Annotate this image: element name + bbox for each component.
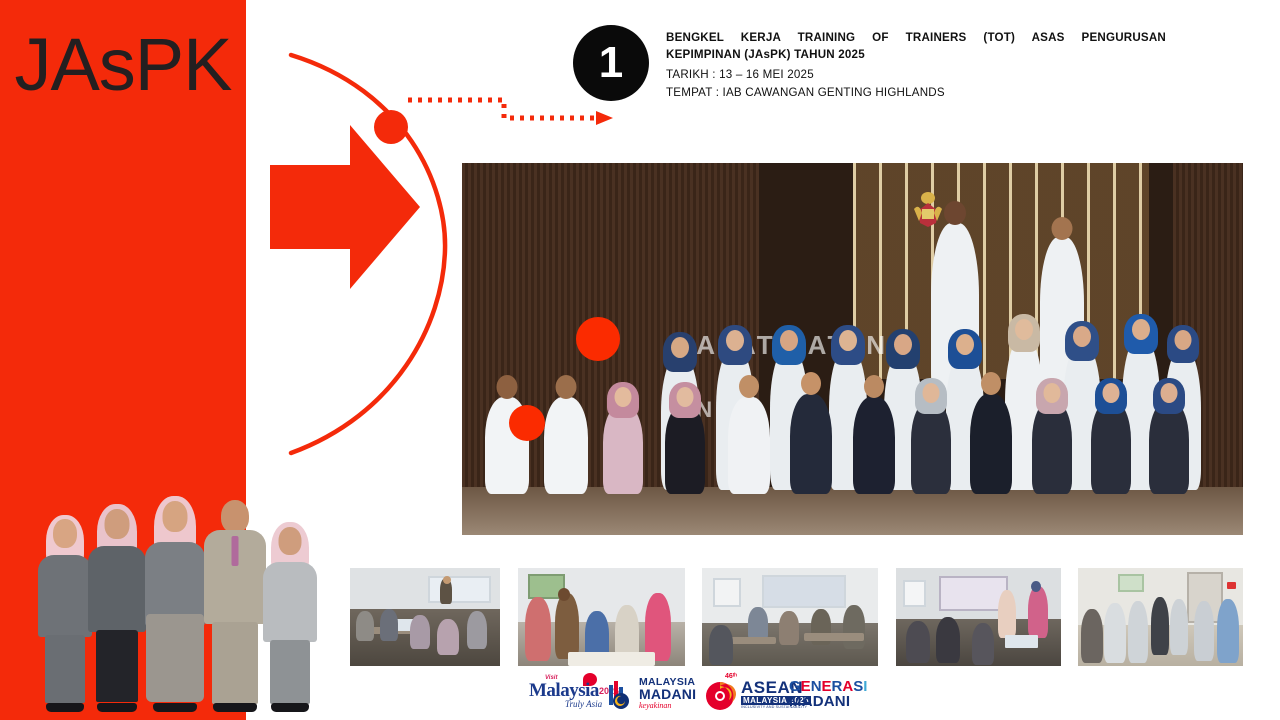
photo-person-front	[728, 397, 770, 494]
photo-person-front	[790, 394, 832, 494]
malaysia-crest-icon	[911, 189, 945, 229]
header-text-block: BENGKEL KERJA TRAINING OF TRAINERS (TOT)…	[666, 30, 1166, 103]
presentation-slide: JAsPK	[0, 0, 1280, 720]
header-date: TARIKH : 13 – 16 MEI 2025	[666, 66, 1166, 85]
photo-redaction-dot	[509, 405, 545, 441]
madani-mark-icon	[608, 679, 634, 709]
logo-vm-tagline: Truly Asia	[565, 699, 602, 709]
photo-person-front	[970, 394, 1012, 494]
header-title-line-1: BENGKEL KERJA TRAINING OF TRAINERS (TOT)…	[666, 30, 1166, 47]
thumbnail-classroom-presentation[interactable]	[702, 568, 878, 666]
photo-person-front	[665, 405, 705, 494]
thumbnail-corridor-lineup[interactable]	[1078, 568, 1243, 666]
photo-person-front	[603, 405, 643, 494]
thumbnail-lecture-hall[interactable]	[350, 568, 500, 666]
step-number-badge: 1	[573, 25, 649, 101]
logo-gm-line2: MADANI	[789, 694, 867, 710]
photo-person-front	[1149, 401, 1189, 494]
thumbnail-screen-briefing[interactable]	[896, 568, 1061, 666]
logo-mm-line2: MADANI	[639, 687, 696, 701]
header-venue: TEMPAT : IAB CAWANGAN GENTING HIGHLANDS	[666, 84, 1166, 103]
photo-person-front	[1091, 401, 1131, 494]
photo-person-front	[1032, 401, 1072, 494]
logo-gm-line1: GENERASI	[789, 679, 867, 694]
logo-asean-anniversary: 46ᵗʰ	[725, 673, 737, 680]
header-title-line-2: KEPIMPINAN (JAsPK) TAHUN 2025	[666, 47, 1166, 64]
asean-spiral-icon: 46ᵗʰ	[703, 677, 737, 711]
thumbnail-group-discussion[interactable]	[518, 568, 685, 666]
logo-generasi-madani: GENERASI MADANI	[789, 672, 867, 716]
photo-person-front	[853, 397, 895, 494]
main-group-photo: ALAT DATANG N B	[462, 163, 1243, 535]
page-title: JAsPK	[0, 28, 246, 102]
photo-person-front	[544, 397, 588, 494]
logo-malaysia-madani: MALAYSIA MADANI keyakinan	[608, 672, 696, 716]
photo-person-front	[911, 401, 951, 494]
logo-mm-line3: keyakinan	[639, 701, 696, 711]
footer-logo-row: Visit Malaysia 2026 Truly Asia MALAYSIA …	[0, 672, 1280, 716]
